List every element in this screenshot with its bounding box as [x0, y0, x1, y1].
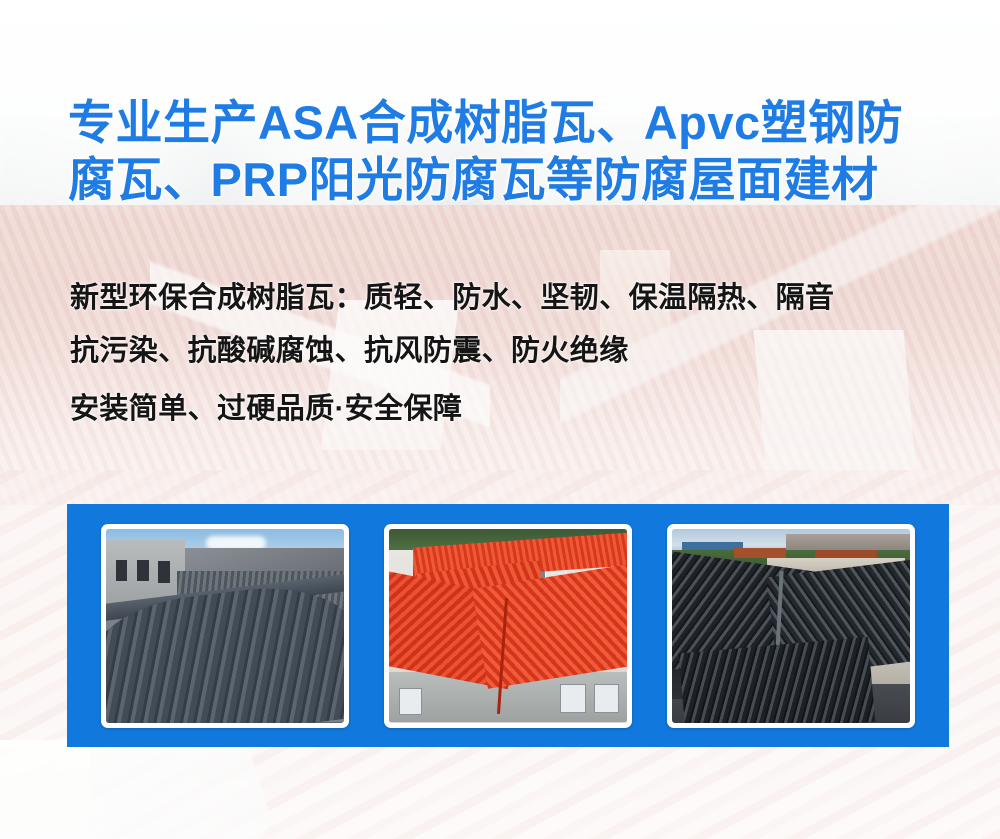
photo2-lower-window — [560, 684, 586, 713]
product-photo-card-2[interactable] — [384, 524, 632, 728]
black-tile-roof-photo — [672, 529, 910, 723]
dark-grey-tile-roof-photo — [106, 529, 344, 723]
photo2-lower-window — [594, 684, 620, 713]
product-photo-panel — [67, 504, 949, 747]
subtitle-block: 新型环保合成树脂瓦：质轻、防水、坚韧、保温隔热、隔音 抗污染、抗酸碱腐蚀、抗风防… — [70, 272, 970, 436]
product-photo-card-3[interactable] — [667, 524, 915, 728]
headline-line-1: 专业生产ASA合成树脂瓦、Apvc塑钢防 — [68, 94, 948, 151]
subtitle-line-3: 安装简单、过硬品质·安全保障 — [70, 383, 970, 436]
subtitle-line-2: 抗污染、抗酸碱腐蚀、抗风防震、防火绝缘 — [70, 325, 970, 378]
headline-line-2: 腐瓦、PRP阳光防腐瓦等防腐屋面建材 — [68, 151, 948, 208]
photo1-window — [158, 561, 170, 582]
headline: 专业生产ASA合成树脂瓦、Apvc塑钢防 腐瓦、PRP阳光防腐瓦等防腐屋面建材 — [68, 94, 948, 208]
subtitle-line-1: 新型环保合成树脂瓦：质轻、防水、坚韧、保温隔热、隔音 — [70, 272, 970, 325]
product-photo-card-1[interactable] — [101, 524, 349, 728]
red-tile-roof-photo — [389, 529, 627, 723]
photo2-lower-window — [399, 688, 422, 715]
promo-banner: 专业生产ASA合成树脂瓦、Apvc塑钢防 腐瓦、PRP阳光防腐瓦等防腐屋面建材 … — [0, 0, 1000, 839]
photo3-far-red-roof — [734, 548, 786, 558]
photo1-window — [116, 560, 128, 581]
photo3-far-buildings — [786, 534, 910, 550]
photo1-window — [137, 560, 149, 581]
